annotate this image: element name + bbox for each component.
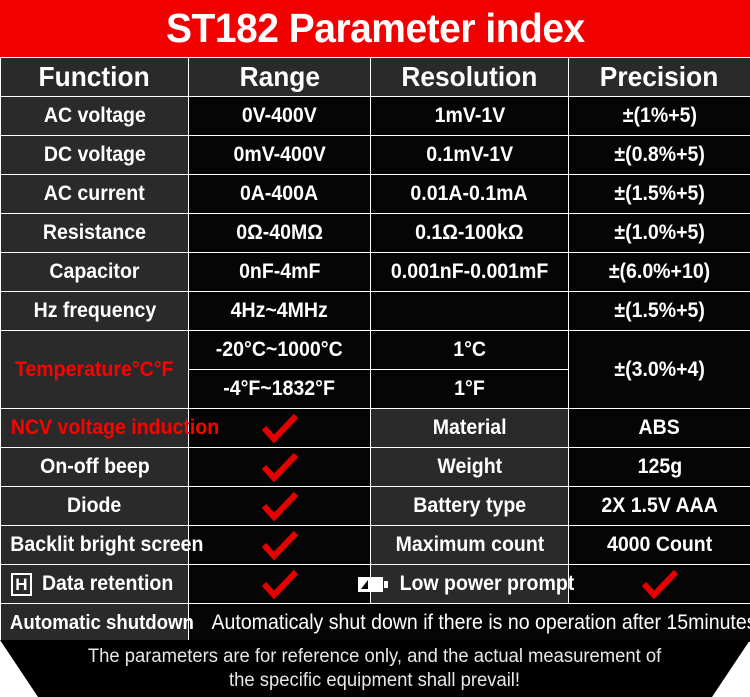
table-row-data-retention: H Data retention Low power prompt [1, 565, 750, 604]
row-range: 0V-400V [189, 97, 371, 136]
footer-disclaimer: The parameters are for reference only, a… [88, 645, 661, 693]
table-row-automatic-shutdown: Automatic shutdown Automaticaly shut dow… [1, 604, 750, 643]
row-spec-label-low-power: Low power prompt [371, 565, 569, 604]
row-precision: ±(1.5%+5) [569, 292, 750, 331]
footer-banner: The parameters are for reference only, a… [0, 640, 750, 697]
check-icon [259, 452, 301, 482]
row-spec-value: 2X 1.5V AAA [569, 487, 750, 526]
check-icon [259, 491, 301, 521]
row-range: 0Ω-40MΩ [189, 214, 371, 253]
row-precision: ±(1.0%+5) [569, 214, 750, 253]
table-row: Capacitor 0nF-4mF 0.001nF-0.001mF ±(6.0%… [1, 253, 750, 292]
row-range: 0nF-4mF [189, 253, 371, 292]
row-function-label: Data retention [42, 572, 173, 596]
table-row: AC current 0A-400A 0.01A-0.1mA ±(1.5%+5) [1, 175, 750, 214]
row-precision: ±(0.8%+5) [569, 136, 750, 175]
footer-line-2: the specific equipment shall prevail! [230, 670, 521, 691]
footer-line-1: The parameters are for reference only, a… [88, 646, 661, 667]
column-header-range: Range [189, 58, 371, 97]
hold-h-icon: H [11, 573, 32, 596]
row-spec-label: Battery type [371, 487, 569, 526]
row-resolution-fahrenheit: 1°F [371, 370, 569, 409]
row-check [189, 565, 371, 604]
row-resolution-celsius: 1°C [371, 331, 569, 370]
check-icon [259, 413, 301, 443]
row-function: Hz frequency [1, 292, 189, 331]
row-function-temperature: Temperature°C°F [1, 331, 189, 409]
row-precision: ±(1.5%+5) [569, 175, 750, 214]
row-function: AC current [1, 175, 189, 214]
row-function: Resistance [1, 214, 189, 253]
table-row: Resistance 0Ω-40MΩ 0.1Ω-100kΩ ±(1.0%+5) [1, 214, 750, 253]
check-icon [259, 530, 301, 560]
row-spec-label: Maximum count [371, 526, 569, 565]
row-function: On-off beep [1, 448, 189, 487]
row-resolution: 0.001nF-0.001mF [371, 253, 569, 292]
row-range: 0A-400A [189, 175, 371, 214]
parameter-table: Function Range Resolution Precision AC v… [0, 57, 750, 643]
row-precision-temperature: ±(3.0%+4) [569, 331, 750, 409]
row-resolution [371, 292, 569, 331]
table-row: On-off beep Weight 125g [1, 448, 750, 487]
table-row: Diode Battery type 2X 1.5V AAA [1, 487, 750, 526]
table-row: AC voltage 0V-400V 1mV-1V ±(1%+5) [1, 97, 750, 136]
row-function: DC voltage [1, 136, 189, 175]
table-row: DC voltage 0mV-400V 0.1mV-1V ±(0.8%+5) [1, 136, 750, 175]
low-battery-icon [358, 577, 388, 592]
row-resolution: 0.1mV-1V [371, 136, 569, 175]
row-precision: ±(1%+5) [569, 97, 750, 136]
row-spec-value: 4000 Count [569, 526, 750, 565]
check-icon [639, 569, 681, 599]
row-range-celsius: -20°C~1000°C [189, 331, 371, 370]
row-function-ncv: NCV voltage induction [1, 409, 189, 448]
row-check [189, 526, 371, 565]
column-header-precision: Precision [569, 58, 750, 97]
column-header-function: Function [1, 58, 189, 97]
page-title: ST182 Parameter index [166, 8, 585, 49]
row-spec-value: 125g [569, 448, 750, 487]
row-spec-value-check [569, 565, 750, 604]
row-check [189, 487, 371, 526]
row-spec-label: Weight [371, 448, 569, 487]
row-function: AC voltage [1, 97, 189, 136]
table-row: Hz frequency 4Hz~4MHz ±(1.5%+5) [1, 292, 750, 331]
row-spec-label: Material [371, 409, 569, 448]
row-function-automatic-shutdown: Automatic shutdown [1, 604, 189, 643]
low-power-label: Low power prompt [400, 572, 575, 596]
row-check [189, 448, 371, 487]
row-resolution: 0.1Ω-100kΩ [371, 214, 569, 253]
row-spec-value: ABS [569, 409, 750, 448]
automatic-shutdown-note: Automaticaly shut down if there is no op… [189, 604, 750, 643]
table-row-temperature-celsius: Temperature°C°F -20°C~1000°C 1°C ±(3.0%+… [1, 331, 750, 370]
table-row: NCV voltage induction Material ABS [1, 409, 750, 448]
row-function: Backlit bright screen [1, 526, 189, 565]
table-row: Backlit bright screen Maximum count 4000… [1, 526, 750, 565]
row-resolution: 0.01A-0.1mA [371, 175, 569, 214]
row-range: 0mV-400V [189, 136, 371, 175]
row-function: Diode [1, 487, 189, 526]
row-range-fahrenheit: -4°F~1832°F [189, 370, 371, 409]
row-function: Capacitor [1, 253, 189, 292]
row-resolution: 1mV-1V [371, 97, 569, 136]
column-header-resolution: Resolution [371, 58, 569, 97]
row-range: 4Hz~4MHz [189, 292, 371, 331]
table-header-row: Function Range Resolution Precision [1, 58, 750, 97]
spec-sheet-page: ST182 Parameter index Function Range Res… [0, 0, 750, 697]
row-function-data-retention: H Data retention [1, 565, 189, 604]
check-icon [259, 569, 301, 599]
row-precision: ±(6.0%+10) [569, 253, 750, 292]
title-bar: ST182 Parameter index [0, 0, 750, 57]
